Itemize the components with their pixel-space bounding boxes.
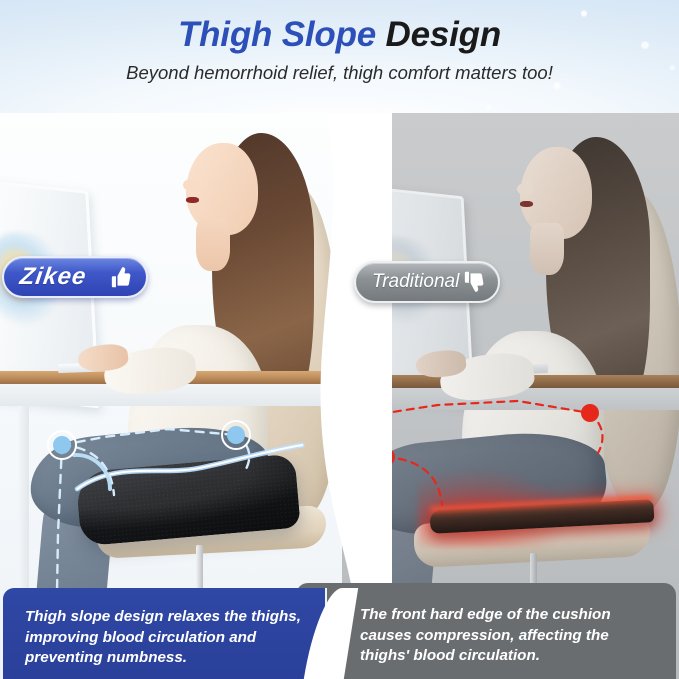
thumbs-up-icon xyxy=(106,264,132,290)
badge-label-traditional: Traditional xyxy=(372,261,459,303)
header-banner: Thigh Slope Design Beyond hemorrhoid rel… xyxy=(0,0,679,113)
product-comparison-infographic: Thigh Slope Design Beyond hemorrhoid rel… xyxy=(0,0,679,679)
badge-traditional[interactable]: Traditional xyxy=(354,261,500,303)
person-lips xyxy=(520,201,533,207)
page-title: Thigh Slope Design xyxy=(178,15,501,55)
brand-name-zikee: Zikee xyxy=(17,256,89,298)
person-lips xyxy=(186,197,199,203)
person-nose xyxy=(517,183,533,195)
badge-zikee[interactable]: Zikee xyxy=(2,256,148,298)
caption-traditional-text: The front hard edge of the cushion cause… xyxy=(360,606,611,664)
person-nose xyxy=(183,179,199,191)
desk-leg xyxy=(18,406,29,596)
page-title-accent: Thigh Slope xyxy=(178,15,376,54)
page-title-plain: Design xyxy=(386,15,502,54)
caption-zikee-text: Thigh slope design relaxes the thighs, i… xyxy=(25,608,301,666)
thumbs-down-icon xyxy=(459,269,485,295)
caption-zikee: Thigh slope design relaxes the thighs, i… xyxy=(3,588,325,679)
person-neck xyxy=(196,219,230,271)
page-subtitle: Beyond hemorrhoid relief, thigh comfort … xyxy=(126,61,553,85)
person-neck xyxy=(530,223,564,275)
desk-leg xyxy=(352,410,363,600)
